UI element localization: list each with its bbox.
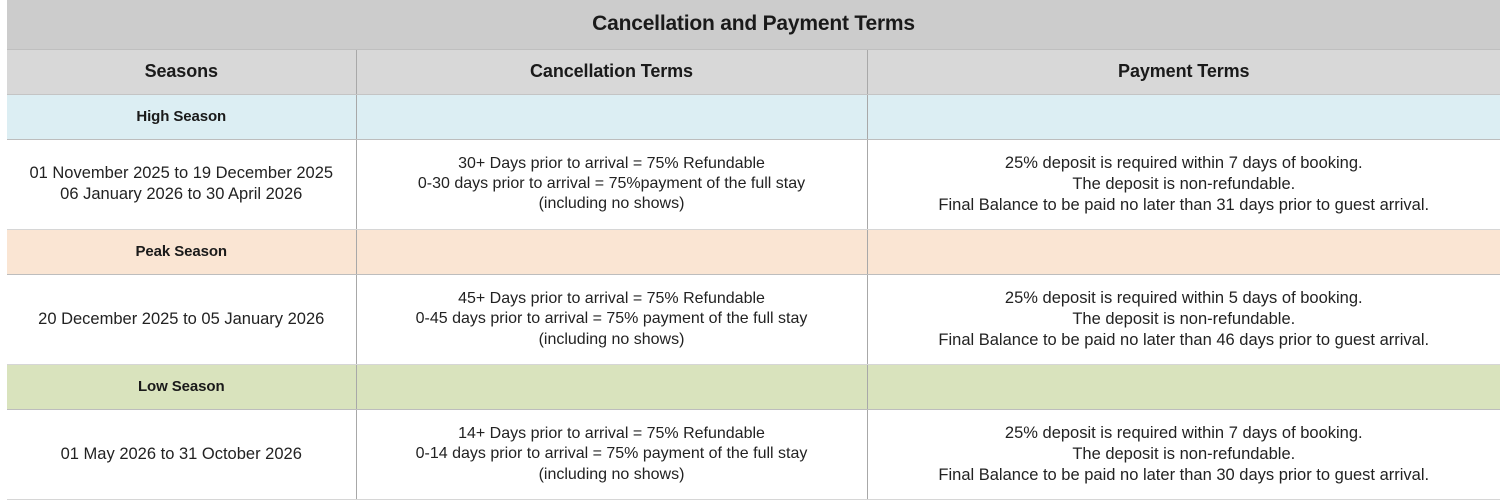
season-band-spacer-payment-high [867, 94, 1500, 139]
payment-terms-low: 25% deposit is required within 7 days of… [867, 409, 1500, 499]
season-band-label-peak: Peak Season [7, 229, 356, 274]
payment-terms-peak: 25% deposit is required within 5 days of… [867, 274, 1500, 364]
table-row-high: 01 November 2025 to 19 December 2025 06 … [7, 139, 1500, 229]
season-dates-peak: 20 December 2025 to 05 January 2026 [7, 274, 356, 364]
season-band-spacer-cancellation-high [356, 94, 867, 139]
terms-table-sheet: Cancellation and Payment Terms Seasons C… [0, 0, 1500, 500]
table-title-row: Cancellation and Payment Terms [7, 0, 1500, 49]
season-dates-high: 01 November 2025 to 19 December 2025 06 … [7, 139, 356, 229]
season-band-spacer-cancellation-peak [356, 229, 867, 274]
season-band-row-peak: Peak Season [7, 229, 1500, 274]
table-row-peak: 20 December 2025 to 05 January 2026 45+ … [7, 274, 1500, 364]
page-title: Cancellation and Payment Terms [7, 0, 1500, 49]
cancellation-terms-peak: 45+ Days prior to arrival = 75% Refundab… [356, 274, 867, 364]
column-header-payment-terms: Payment Terms [867, 49, 1500, 94]
column-header-seasons: Seasons [7, 49, 356, 94]
table-header-row: Seasons Cancellation Terms Payment Terms [7, 49, 1500, 94]
cancellation-terms-high: 30+ Days prior to arrival = 75% Refundab… [356, 139, 867, 229]
season-band-row-high: High Season [7, 94, 1500, 139]
season-band-label-low: Low Season [7, 364, 356, 409]
table-row-low: 01 May 2026 to 31 October 2026 14+ Days … [7, 409, 1500, 499]
season-band-spacer-cancellation-low [356, 364, 867, 409]
season-dates-low: 01 May 2026 to 31 October 2026 [7, 409, 356, 499]
season-band-spacer-payment-low [867, 364, 1500, 409]
cancellation-terms-low: 14+ Days prior to arrival = 75% Refundab… [356, 409, 867, 499]
season-band-row-low: Low Season [7, 364, 1500, 409]
season-band-spacer-payment-peak [867, 229, 1500, 274]
season-band-label-high: High Season [7, 94, 356, 139]
payment-terms-high: 25% deposit is required within 7 days of… [867, 139, 1500, 229]
cancellation-payment-terms-table: Cancellation and Payment Terms Seasons C… [7, 0, 1500, 500]
column-header-cancellation-terms: Cancellation Terms [356, 49, 867, 94]
